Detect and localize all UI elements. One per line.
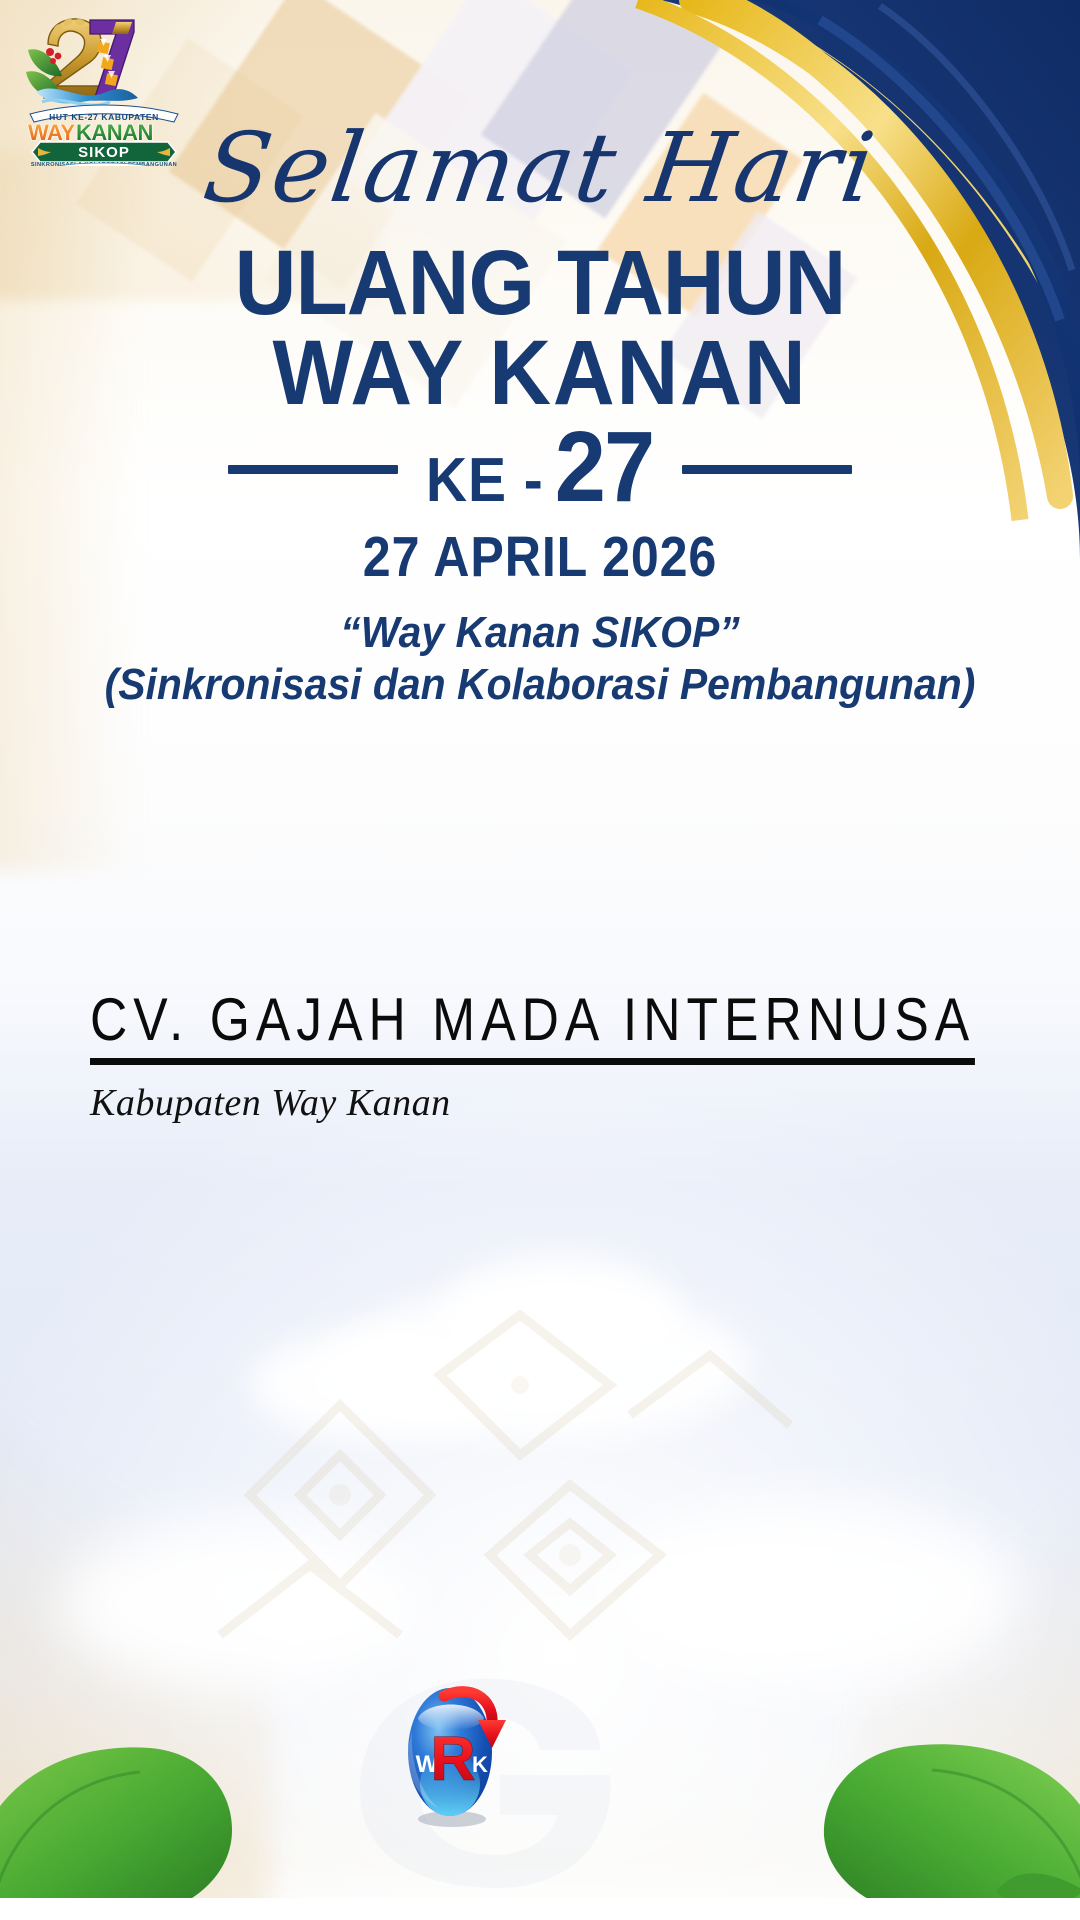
ordinal-label: KE - — [426, 445, 544, 516]
rule-left — [228, 465, 398, 474]
bg-cloud — [250, 1330, 510, 1440]
event-date: 27 APRIL 2026 — [65, 524, 1015, 590]
ordinal-row: KE - 27 — [0, 422, 1080, 516]
tagline-quoted: “Way Kanan SIKOP” — [38, 608, 1042, 658]
company-name: CV. GAJAH MADA INTERNUSA — [90, 985, 975, 1065]
bg-cloud — [60, 1520, 420, 1690]
headline-line-1: ULANG TAHUN — [235, 232, 846, 334]
wrk-letter-k: K — [472, 1752, 488, 1777]
greeting-script: Selamat Hari — [0, 120, 1080, 216]
sender-block: CV. GAJAH MADA INTERNUSA Kabupaten Way K… — [90, 985, 990, 1125]
bottom-white-strip — [0, 1898, 1080, 1920]
batik-motif — [190, 1255, 810, 1725]
bg-cloud — [600, 1500, 1020, 1690]
wrk-letter-r: R — [431, 1725, 476, 1794]
bg-gold-wash — [0, 1360, 270, 1920]
ordinal-wrap: KE - 27 — [426, 422, 653, 516]
poster-content: Selamat Hari ULANG TAHUN WAY KANAN KE - … — [0, 0, 1080, 710]
leaf-decoration — [0, 1620, 1080, 1920]
bg-gold-wash — [860, 1460, 1080, 1880]
greeting-poster: HUT KE-27 KABUPATEN WAY KANAN SIKOP SINK… — [0, 0, 1080, 1920]
tagline-expansion: (Sinkronisasi dan Kolaborasi Pembangunan… — [38, 660, 1042, 710]
headline-line-2: WAY KANAN — [38, 328, 1042, 418]
bg-cloud — [330, 1290, 750, 1440]
bg-cloud — [440, 1255, 680, 1375]
ordinal-number: 27 — [555, 422, 654, 512]
rule-right — [682, 465, 852, 474]
page-title: ULANG TAHUN WAY KANAN — [38, 238, 1042, 418]
company-location: Kabupaten Way Kanan — [90, 1081, 990, 1125]
wrk-globe-logo: W R K — [388, 1672, 518, 1832]
